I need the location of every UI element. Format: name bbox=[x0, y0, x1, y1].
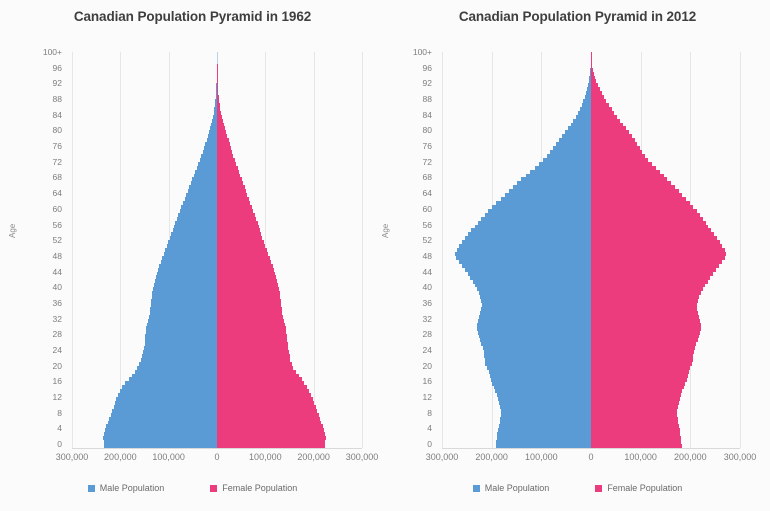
bar-female bbox=[591, 315, 699, 319]
bar-female bbox=[217, 115, 222, 119]
y-tick-label: 64 bbox=[53, 189, 62, 198]
y-tick-label: 72 bbox=[53, 158, 62, 167]
x-tick-label: 300,000 bbox=[56, 452, 89, 462]
bar-female bbox=[217, 130, 226, 134]
bar-male bbox=[492, 381, 591, 385]
bar-female bbox=[217, 119, 223, 123]
bar-female bbox=[591, 181, 671, 185]
bar-female bbox=[217, 311, 282, 315]
bar-female bbox=[217, 123, 224, 127]
y-tick-label: 68 bbox=[423, 173, 432, 182]
legend-item[interactable]: Male Population bbox=[88, 483, 165, 493]
x-tick-label: 300,000 bbox=[346, 452, 379, 462]
bar-female bbox=[217, 299, 281, 303]
bar-male bbox=[462, 264, 591, 268]
bar-female bbox=[591, 421, 678, 425]
bar-male bbox=[200, 158, 217, 162]
bar-male bbox=[194, 174, 217, 178]
bar-female bbox=[591, 52, 592, 56]
bar-male bbox=[155, 279, 217, 283]
y-tick-label: 40 bbox=[53, 283, 62, 292]
bar-male bbox=[145, 334, 217, 338]
bar-female bbox=[217, 91, 218, 95]
legend-item[interactable]: Female Population bbox=[210, 483, 297, 493]
bar-male bbox=[478, 319, 591, 323]
bar-female bbox=[591, 366, 690, 370]
y-tick-label: 88 bbox=[423, 95, 432, 104]
bar-female bbox=[591, 225, 708, 229]
bars-1962 bbox=[72, 52, 362, 448]
bar-female bbox=[591, 185, 675, 189]
bar-male bbox=[108, 421, 217, 425]
bar-female bbox=[217, 432, 325, 436]
bar-female bbox=[217, 170, 239, 174]
bar-male bbox=[499, 424, 591, 428]
y-tick-label: 68 bbox=[53, 173, 62, 182]
bar-female bbox=[217, 319, 284, 323]
y-tick-label: 56 bbox=[423, 221, 432, 230]
y-tick-label: 100+ bbox=[43, 48, 62, 57]
bar-male bbox=[580, 107, 591, 111]
bar-female bbox=[591, 409, 677, 413]
bar-female bbox=[217, 138, 229, 142]
bar-female bbox=[591, 76, 595, 80]
bar-female bbox=[217, 162, 236, 166]
bar-female bbox=[591, 370, 689, 374]
bar-male bbox=[465, 236, 591, 240]
bar-male bbox=[203, 150, 218, 154]
bar-female bbox=[591, 440, 681, 444]
bar-male bbox=[132, 374, 217, 378]
y-tick-label: 76 bbox=[423, 142, 432, 151]
legend-label: Female Population bbox=[222, 483, 297, 493]
bar-male bbox=[499, 401, 591, 405]
bar-female bbox=[217, 268, 274, 272]
bar-male bbox=[481, 299, 591, 303]
bar-female bbox=[591, 413, 677, 417]
bar-male bbox=[465, 268, 591, 272]
bar-female bbox=[591, 432, 680, 436]
bar-female bbox=[591, 83, 598, 87]
bar-male bbox=[457, 248, 591, 252]
bar-male bbox=[501, 409, 591, 413]
y-tick-label: 52 bbox=[53, 236, 62, 245]
bar-female bbox=[591, 221, 706, 225]
y-tick-label: 52 bbox=[423, 236, 432, 245]
bar-male bbox=[526, 174, 591, 178]
x-tick-label: 200,000 bbox=[297, 452, 330, 462]
bar-male bbox=[573, 119, 591, 123]
bar-male bbox=[571, 123, 591, 127]
bar-female bbox=[217, 338, 287, 342]
x-tick-label: 100,000 bbox=[624, 452, 657, 462]
y-tick-label: 88 bbox=[53, 95, 62, 104]
bar-male bbox=[152, 291, 217, 295]
y-tick-label: 16 bbox=[53, 377, 62, 386]
bar-female bbox=[217, 381, 304, 385]
bar-female bbox=[217, 236, 262, 240]
bar-male bbox=[103, 436, 217, 440]
y-tick-label: 24 bbox=[53, 346, 62, 355]
bar-female bbox=[217, 95, 219, 99]
bar-female bbox=[217, 342, 288, 346]
bar-female bbox=[217, 221, 258, 225]
legend-item[interactable]: Female Population bbox=[595, 483, 682, 493]
bar-female bbox=[591, 311, 698, 315]
bar-female bbox=[217, 193, 247, 197]
bar-male bbox=[143, 350, 217, 354]
bar-female bbox=[591, 323, 701, 327]
legend-swatch-icon bbox=[473, 485, 480, 492]
bar-female bbox=[217, 83, 218, 87]
x-tick-label: 0 bbox=[588, 452, 593, 462]
bar-male bbox=[177, 217, 217, 221]
bar-male bbox=[456, 256, 591, 260]
bar-female bbox=[591, 162, 652, 166]
bar-male bbox=[159, 264, 217, 268]
bar-male bbox=[481, 307, 591, 311]
bar-male bbox=[139, 362, 217, 366]
bar-female bbox=[591, 158, 648, 162]
bar-male bbox=[197, 166, 217, 170]
y-tick-label: 28 bbox=[53, 330, 62, 339]
bar-male bbox=[477, 287, 591, 291]
bar-female bbox=[217, 189, 246, 193]
bar-male bbox=[497, 393, 591, 397]
y-tick-label: 0 bbox=[57, 440, 62, 449]
bar-male bbox=[483, 346, 591, 350]
bar-female bbox=[591, 115, 617, 119]
bar-male bbox=[497, 436, 591, 440]
bar-female bbox=[591, 268, 716, 272]
bar-female bbox=[217, 436, 326, 440]
y-tick-label: 84 bbox=[423, 111, 432, 120]
bar-female bbox=[217, 385, 307, 389]
bar-male bbox=[509, 189, 591, 193]
y-tick-label: 44 bbox=[423, 268, 432, 277]
bar-female bbox=[591, 79, 596, 83]
bar-female bbox=[591, 436, 681, 440]
bar-male bbox=[568, 126, 591, 130]
x-axis-labels-2012: 300,000200,000100,0000100,000200,000300,… bbox=[442, 452, 740, 468]
y-tick-label: 20 bbox=[423, 362, 432, 371]
x-tick-label: 100,000 bbox=[152, 452, 185, 462]
bar-male bbox=[539, 162, 591, 166]
bar-male bbox=[547, 154, 591, 158]
bar-female bbox=[217, 279, 277, 283]
bar-female bbox=[591, 201, 690, 205]
y-tick-label: 32 bbox=[423, 315, 432, 324]
bar-male bbox=[183, 201, 217, 205]
bar-female bbox=[591, 389, 682, 393]
bar-male bbox=[104, 432, 217, 436]
legend-label: Female Population bbox=[607, 483, 682, 493]
bar-male bbox=[167, 244, 217, 248]
bar-female bbox=[591, 424, 679, 428]
bar-female bbox=[591, 346, 695, 350]
bar-female bbox=[217, 334, 287, 338]
y-tick-label: 80 bbox=[423, 126, 432, 135]
bar-female bbox=[591, 150, 642, 154]
bar-male bbox=[468, 232, 591, 236]
bar-male bbox=[530, 170, 591, 174]
bar-male bbox=[477, 326, 591, 330]
bar-female bbox=[217, 315, 283, 319]
bar-male bbox=[152, 295, 217, 299]
bar-female bbox=[591, 228, 711, 232]
bar-female bbox=[217, 291, 280, 295]
bar-female bbox=[217, 107, 220, 111]
bar-male bbox=[153, 287, 217, 291]
bar-female bbox=[217, 287, 279, 291]
legend-swatch-icon bbox=[210, 485, 217, 492]
x-axis-line-2012 bbox=[442, 448, 740, 449]
bar-male bbox=[157, 272, 217, 276]
y-tick-label: 0 bbox=[427, 440, 432, 449]
gridline bbox=[740, 52, 741, 448]
legend-swatch-icon bbox=[88, 485, 95, 492]
bar-male bbox=[180, 209, 217, 213]
bar-female bbox=[591, 252, 726, 256]
bar-male bbox=[149, 315, 217, 319]
y-tick-label: 92 bbox=[423, 79, 432, 88]
bar-female bbox=[591, 244, 722, 248]
legend-label: Male Population bbox=[485, 483, 550, 493]
bar-female bbox=[217, 111, 221, 115]
bar-female bbox=[591, 248, 725, 252]
bar-male bbox=[198, 162, 217, 166]
chart-panel-2012: Canadian Population Pyramid in 2012 Age … bbox=[385, 0, 770, 511]
bar-female bbox=[591, 56, 592, 60]
bar-male bbox=[565, 130, 591, 134]
bar-male bbox=[106, 424, 217, 428]
bar-female bbox=[591, 232, 714, 236]
legend-label: Male Population bbox=[100, 483, 165, 493]
bar-female bbox=[591, 174, 664, 178]
bar-female bbox=[217, 374, 299, 378]
bar-male bbox=[479, 291, 591, 295]
bar-female bbox=[217, 99, 219, 103]
bar-female bbox=[591, 362, 692, 366]
bar-male bbox=[550, 150, 591, 154]
y-tick-label: 44 bbox=[53, 268, 62, 277]
bar-male bbox=[471, 228, 591, 232]
x-axis-labels-1962: 300,000200,000100,0000100,000200,000300,… bbox=[72, 452, 362, 468]
bar-male bbox=[470, 275, 591, 279]
y-tick-label: 48 bbox=[53, 252, 62, 261]
bar-male bbox=[490, 374, 591, 378]
bar-female bbox=[591, 342, 696, 346]
bar-male bbox=[462, 240, 591, 244]
bar-male bbox=[479, 334, 591, 338]
bar-male bbox=[488, 209, 591, 213]
bar-female bbox=[591, 134, 632, 138]
bar-female bbox=[217, 126, 225, 130]
bar-male bbox=[553, 146, 591, 150]
bar-female bbox=[591, 119, 620, 123]
y-tick-label: 12 bbox=[53, 393, 62, 402]
x-tick-label: 300,000 bbox=[724, 452, 757, 462]
bar-female bbox=[217, 389, 309, 393]
bar-female bbox=[217, 213, 255, 217]
bar-male bbox=[505, 193, 591, 197]
bar-male bbox=[207, 138, 217, 142]
bar-female bbox=[591, 358, 693, 362]
bar-male bbox=[478, 330, 591, 334]
bar-female bbox=[591, 275, 710, 279]
chart-title-2012: Canadian Population Pyramid in 2012 bbox=[385, 9, 770, 24]
y-axis-title-2012: Age bbox=[381, 224, 390, 238]
bar-female bbox=[591, 350, 694, 354]
bar-female bbox=[217, 260, 271, 264]
bar-female bbox=[217, 197, 249, 201]
bar-male bbox=[501, 197, 591, 201]
population-pyramid-figure: Canadian Population Pyramid in 1962 Age … bbox=[0, 0, 770, 511]
bar-male bbox=[105, 428, 217, 432]
bar-female bbox=[591, 68, 593, 72]
bar-male bbox=[478, 221, 591, 225]
bar-female bbox=[591, 354, 693, 358]
bar-female bbox=[217, 275, 276, 279]
bar-male bbox=[141, 358, 217, 362]
bar-female bbox=[591, 193, 682, 197]
bar-female bbox=[591, 146, 640, 150]
bar-female bbox=[591, 138, 635, 142]
bar-male bbox=[115, 401, 217, 405]
bar-female bbox=[591, 107, 612, 111]
bar-male bbox=[151, 299, 217, 303]
bar-male bbox=[455, 252, 591, 256]
bar-female bbox=[591, 381, 685, 385]
bar-male bbox=[498, 397, 591, 401]
bar-female bbox=[591, 401, 679, 405]
bar-female bbox=[591, 428, 680, 432]
y-axis-title-1962: Age bbox=[8, 224, 17, 238]
bar-female bbox=[591, 126, 626, 130]
y-tick-label: 84 bbox=[53, 111, 62, 120]
bar-female bbox=[591, 338, 698, 342]
bar-male bbox=[494, 385, 591, 389]
plot-area-2012 bbox=[442, 52, 740, 448]
bar-male bbox=[129, 377, 217, 381]
bar-male bbox=[578, 111, 591, 115]
y-tick-label: 60 bbox=[423, 205, 432, 214]
bar-female bbox=[591, 256, 725, 260]
bar-male bbox=[185, 197, 217, 201]
bar-female bbox=[217, 264, 273, 268]
y-axis-labels-2012: 100+969288848076726864605652484440363228… bbox=[392, 52, 436, 448]
bar-female bbox=[591, 209, 697, 213]
bar-male bbox=[150, 311, 217, 315]
bar-female bbox=[591, 99, 606, 103]
bar-male bbox=[120, 389, 217, 393]
y-tick-label: 56 bbox=[53, 221, 62, 230]
bar-female bbox=[591, 213, 700, 217]
bar-male bbox=[111, 413, 217, 417]
bar-female bbox=[217, 146, 231, 150]
bar-female bbox=[591, 334, 699, 338]
bar-male bbox=[468, 272, 591, 276]
bar-female bbox=[217, 228, 260, 232]
bar-female bbox=[217, 150, 232, 154]
bar-male bbox=[480, 295, 591, 299]
bar-female bbox=[591, 377, 687, 381]
bar-female bbox=[217, 79, 218, 83]
bar-male bbox=[118, 393, 217, 397]
bar-female bbox=[217, 401, 314, 405]
bar-male bbox=[188, 189, 217, 193]
bar-male bbox=[150, 307, 217, 311]
bar-male bbox=[498, 428, 591, 432]
bar-female bbox=[591, 417, 678, 421]
y-tick-label: 76 bbox=[53, 142, 62, 151]
bar-male bbox=[112, 409, 217, 413]
bar-female bbox=[217, 417, 320, 421]
bar-male bbox=[459, 260, 591, 264]
bar-male bbox=[195, 170, 217, 174]
bar-female bbox=[591, 291, 701, 295]
bar-female bbox=[591, 279, 708, 283]
y-tick-label: 8 bbox=[57, 409, 62, 418]
bar-female bbox=[217, 323, 285, 327]
x-tick-label: 200,000 bbox=[475, 452, 508, 462]
y-tick-label: 16 bbox=[423, 377, 432, 386]
legend-item[interactable]: Male Population bbox=[473, 483, 550, 493]
bar-female bbox=[591, 272, 713, 276]
bar-female bbox=[217, 283, 278, 287]
bar-female bbox=[591, 393, 681, 397]
bar-female bbox=[591, 236, 717, 240]
bar-male bbox=[175, 221, 217, 225]
bar-female bbox=[217, 217, 256, 221]
bar-male bbox=[491, 377, 591, 381]
bar-male bbox=[109, 417, 217, 421]
bar-female bbox=[591, 217, 703, 221]
bar-female bbox=[217, 248, 267, 252]
y-tick-label: 80 bbox=[53, 126, 62, 135]
bar-female bbox=[591, 103, 609, 107]
bar-male bbox=[104, 440, 217, 444]
bar-male bbox=[501, 413, 591, 417]
bar-female bbox=[591, 64, 592, 68]
bar-female bbox=[591, 91, 602, 95]
bar-male bbox=[173, 228, 217, 232]
bar-female bbox=[591, 295, 699, 299]
bar-male bbox=[114, 405, 217, 409]
bar-female bbox=[217, 405, 316, 409]
bar-male bbox=[135, 370, 217, 374]
bar-female bbox=[591, 287, 703, 291]
bar-male bbox=[164, 252, 217, 256]
bar-female bbox=[591, 240, 720, 244]
y-tick-label: 32 bbox=[53, 315, 62, 324]
bar-male bbox=[125, 381, 217, 385]
y-tick-label: 48 bbox=[423, 252, 432, 261]
bar-female bbox=[591, 60, 592, 64]
bar-female bbox=[217, 424, 323, 428]
bar-male bbox=[191, 181, 217, 185]
bar-female bbox=[217, 177, 242, 181]
bar-male bbox=[204, 146, 217, 150]
bar-male bbox=[146, 330, 217, 334]
y-tick-label: 60 bbox=[53, 205, 62, 214]
bar-female bbox=[591, 374, 688, 378]
y-tick-label: 28 bbox=[423, 330, 432, 339]
bar-male bbox=[192, 177, 217, 181]
bar-female bbox=[591, 166, 656, 170]
bar-male bbox=[170, 236, 217, 240]
bar-male bbox=[178, 213, 217, 217]
